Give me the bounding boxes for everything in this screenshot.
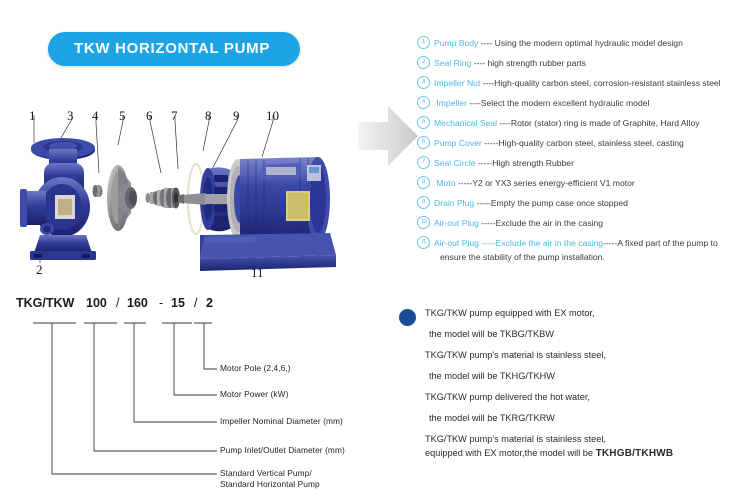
callout-number: 7 (171, 108, 178, 124)
note-final-model: TKHGB/TKHWB (596, 448, 674, 459)
legend-name: Mechanical Seal (434, 118, 497, 128)
legend-description: -----Empty the pump case once stopped (474, 198, 628, 208)
legend-item: 3Impeller Nut ----High-quality carbon st… (417, 73, 753, 93)
legend-name: Seal Ring (434, 58, 471, 68)
callout-number: 6 (146, 108, 153, 124)
nomenclature-label-pump-type: Standard Vertical Pump/ Standard Horizon… (220, 468, 320, 490)
legend-item: 8 Moto -----Y2 or YX3 series energy-effi… (417, 173, 753, 193)
legend-item: 4 Impeller ----Select the modern excelle… (417, 93, 753, 113)
legend-number: 11 (417, 236, 430, 249)
callout-number: 5 (119, 108, 126, 124)
model-nomenclature: TKG/TKW 100 / 160 - 15 / 2 (14, 296, 396, 496)
legend-number: 6 (417, 136, 430, 149)
nomenclature-label-motor-pole: Motor Pole (2,4,6,) (220, 363, 291, 374)
legend-name: Drain Plug (434, 198, 474, 208)
legend-name: Impeller Nut (434, 78, 480, 88)
legend-description: ---- Using the modern optimal hydraulic … (478, 38, 682, 48)
legend-number: 2 (417, 56, 430, 69)
legend-number: 5 (417, 116, 430, 129)
legend-description: ----High-quality carbon steel, corrosion… (480, 78, 720, 88)
legend-name: Air-out Plug (434, 218, 479, 228)
callout-number: 1 (29, 108, 36, 124)
note-line: TKG/TKW pump equipped with EX motor, (425, 308, 595, 318)
legend-number: 7 (417, 156, 430, 169)
legend-item: 10Air-out Plug -----Exclude the air in t… (417, 213, 753, 233)
note-line: the model will be TKRG/TKRW (429, 413, 555, 423)
legend-number: 10 (417, 216, 430, 229)
pump-assembly-illustration (0, 95, 400, 290)
nomenclature-label-inlet-diameter: Pump Inlet/Outlet Diameter (mm) (220, 445, 345, 456)
legend-description: -----High-quality carbon steel, stainles… (482, 138, 684, 148)
legend-name: Pump Cover (434, 138, 482, 148)
note-line: the model will be TKHG/TKHW (429, 371, 555, 381)
feature-legend-list: 1Pump Body ---- Using the modern optimal… (417, 33, 753, 264)
note-line: TKG/TKW pump delivered the hot water, (425, 392, 590, 402)
legend-description-blue: -----Exclude the air in the casing (479, 238, 603, 248)
legend-name: Seal Circle (434, 158, 476, 168)
nomenclature-leader-lines (14, 296, 396, 496)
legend-item: 2Seal Ring ---- high strength rubber par… (417, 53, 753, 73)
legend-item: 1Pump Body ---- Using the modern optimal… (417, 33, 753, 53)
legend-item: 9Drain Plug -----Empty the pump case onc… (417, 193, 753, 213)
legend-item: 5Mechanical Seal ----Rotor (stator) ring… (417, 113, 753, 133)
note-line: the model will be TKBG/TKBW (429, 329, 554, 339)
callout-number: 3 (67, 108, 74, 124)
legend-description: ----Select the modern excellent hydrauli… (467, 98, 649, 108)
exploded-pump-diagram: 1 3 4 5 6 7 8 9 10 2 11 (0, 95, 400, 290)
legend-description: -----High strength Rubber (476, 158, 574, 168)
callout-number: 9 (233, 108, 240, 124)
callout-number: 11 (251, 265, 264, 281)
legend-description: ---- high strength rubber parts (471, 58, 586, 68)
legend-number: 3 (417, 76, 430, 89)
legend-number: 8 (417, 176, 430, 189)
callout-number: 8 (205, 108, 212, 124)
note-line-final: equipped with EX motor,the model will be… (425, 448, 673, 459)
legend-name: Impeller (434, 98, 467, 108)
right-arrow-icon (358, 100, 420, 172)
title-banner: TKW HORIZONTAL PUMP (48, 32, 300, 66)
legend-number: 4 (417, 96, 430, 109)
pump-datasheet-page: TKW HORIZONTAL PUMP (0, 0, 756, 500)
legend-description: -----A fixed part of the pump to (603, 238, 718, 248)
note-final-prefix: equipped with EX motor,the model will be (425, 448, 596, 458)
legend-description: -----Exclude the air in the casing (479, 218, 603, 228)
legend-item: 6Pump Cover -----High-quality carbon ste… (417, 133, 753, 153)
note-line: TKG/TKW pump's material is stainless ste… (425, 350, 606, 360)
legend-name: Moto (434, 178, 456, 188)
page-title: TKW HORIZONTAL PUMP (74, 32, 270, 66)
legend-number: 1 (417, 36, 430, 49)
legend-item: 7Seal Circle -----High strength Rubber (417, 153, 753, 173)
callout-number: 10 (266, 108, 279, 124)
legend-description: -----Y2 or YX3 series energy-efficient V… (456, 178, 635, 188)
nomenclature-label-motor-power: Motor Power (kW) (220, 389, 288, 400)
legend-name: Air-out Plug (434, 238, 479, 248)
legend-description-line2: ensure the stability of the pump install… (440, 250, 753, 264)
note-line: TKG/TKW pump's material is stainless ste… (425, 434, 606, 444)
legend-description: ----Rotor (stator) ring is made of Graph… (497, 118, 700, 128)
legend-name: Pump Body (434, 38, 478, 48)
callout-number: 2 (36, 262, 43, 278)
bullet-icon (399, 309, 416, 326)
legend-item: 11Air-out Plug -----Exclude the air in t… (417, 233, 753, 264)
callout-number: 4 (92, 108, 99, 124)
legend-number: 9 (417, 196, 430, 209)
nomenclature-label-impeller-diameter: Impeller Nominal Diameter (mm) (220, 416, 343, 427)
